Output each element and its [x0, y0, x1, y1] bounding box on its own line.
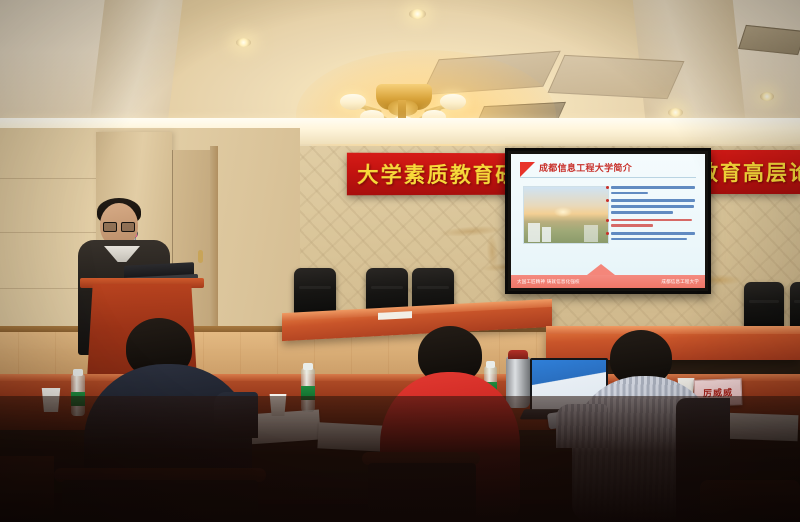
bullet-dot-icon	[606, 232, 609, 235]
list-item	[611, 219, 699, 227]
ceiling-panel	[548, 55, 685, 99]
chandelier-shade	[340, 94, 366, 110]
wall-seam	[0, 178, 100, 179]
photo-building	[542, 227, 551, 242]
photo-building	[528, 223, 540, 242]
wall-seam	[0, 232, 100, 233]
downlight	[760, 92, 774, 101]
presentation-slide: 成都信息工程大学简介	[511, 154, 705, 288]
speaker-glasses-icon	[103, 222, 135, 230]
bottle-cap	[303, 363, 313, 370]
bullet-dot-icon	[606, 186, 609, 189]
slide-accent-triangle-icon	[520, 162, 535, 177]
slide-campus-photo	[523, 186, 609, 244]
slide-bullet-list	[611, 186, 699, 243]
slide-footer: 大国工匠精神 铸就信息化强校 成都信息工程大学	[511, 275, 705, 288]
foreground-shadow	[0, 396, 800, 522]
stage-table-right	[546, 330, 800, 360]
photo-building	[584, 225, 598, 242]
list-item	[611, 186, 699, 194]
banner-left: 大学素质教育研究	[347, 153, 519, 196]
downlight	[409, 9, 426, 19]
thermos-cap	[508, 350, 528, 359]
stage-table-right-top	[546, 326, 800, 334]
slide-title: 成都信息工程大学简介	[539, 161, 632, 174]
slide-footer-triangle-icon	[587, 264, 615, 275]
conference-room-photo: 大学素质教育研究 质教育高层论坛 成都信息工程大学简介	[0, 0, 800, 522]
slide-footer-right-text: 成都信息工程大学	[661, 279, 699, 285]
list-item	[611, 232, 699, 240]
bullet-dot-icon	[606, 219, 609, 222]
door-handle-icon[interactable]	[198, 250, 203, 263]
banner-left-text: 大学素质教育研究	[347, 159, 519, 189]
chandelier-shade	[440, 94, 466, 110]
downlight	[668, 108, 683, 117]
bottle-cap	[486, 361, 495, 368]
slide-divider	[520, 177, 696, 178]
downlight	[236, 38, 251, 47]
projector-screen: 成都信息工程大学简介	[505, 148, 711, 294]
bottle-cap	[73, 369, 83, 376]
slide-footer-left-text: 大国工匠精神 铸就信息化强校	[517, 279, 580, 285]
photo-sun	[554, 207, 572, 217]
list-item	[611, 199, 699, 213]
